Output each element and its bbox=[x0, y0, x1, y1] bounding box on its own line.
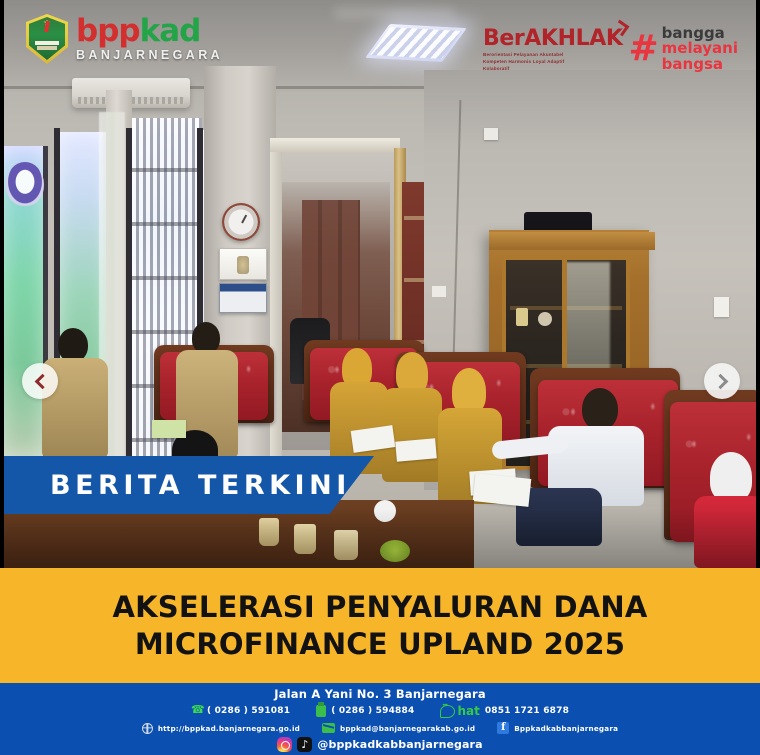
brand-name-part1: bpp bbox=[76, 13, 140, 49]
footer-contact-row-2: http://bppkad.banjarnegara.go.id bppkad@… bbox=[142, 722, 618, 734]
door-lintel bbox=[270, 138, 400, 152]
berakhlak-values-list: Berorientasi Pelayanan Akuntabel Kompete… bbox=[483, 52, 588, 73]
cabinet-cornice bbox=[489, 232, 655, 250]
crest-red-mark bbox=[44, 21, 50, 32]
chevron-left-icon bbox=[34, 373, 50, 389]
cabinet-trophy bbox=[516, 308, 528, 326]
document-folder-green bbox=[152, 420, 186, 438]
light-switch bbox=[714, 297, 729, 317]
photo-vignette bbox=[4, 508, 756, 568]
website-url: http://bppkad.banjarnegara.go.id bbox=[158, 724, 300, 733]
email-address: bppkad@banjarnegarakab.go.id bbox=[340, 724, 475, 733]
facebook-contact[interactable]: f Bppkadkabbanjarnegara bbox=[497, 722, 618, 734]
social-handle: @bppkadkabbanjarnegara bbox=[317, 738, 482, 751]
window-emblem-decal bbox=[6, 162, 44, 206]
facebook-icon: f bbox=[497, 722, 509, 734]
document-paper bbox=[473, 473, 532, 507]
document-paper bbox=[395, 438, 437, 461]
chevron-right-icon bbox=[712, 373, 728, 389]
wall-outlet-upper bbox=[484, 128, 498, 140]
carousel-prev-button[interactable] bbox=[22, 363, 58, 399]
fax-contact[interactable]: ( 0286 ) 594884 bbox=[316, 705, 414, 717]
brand-subtitle: BANJARNEGARA bbox=[76, 49, 223, 62]
headline-block: AKSELERASI PENYALURAN DANA MICROFINANCE … bbox=[0, 568, 760, 683]
phone-contact[interactable]: ☎ ( 0286 ) 591081 bbox=[191, 705, 290, 717]
social-media-post: bppkad BANJARNEGARA BerAKHLAK Berorienta… bbox=[0, 0, 760, 755]
carousel-next-button[interactable] bbox=[704, 363, 740, 399]
whatsapp-contact[interactable]: hat 0851 1721 6878 bbox=[440, 704, 569, 718]
brand-name: bppkad bbox=[76, 16, 223, 47]
chat-word: hat bbox=[457, 704, 479, 718]
wall-plaque-certificate bbox=[219, 248, 267, 280]
berita-terkini-label: BERITA TERKINI bbox=[4, 470, 351, 501]
fax-number: ( 0286 ) 594884 bbox=[331, 706, 414, 716]
attendee-head bbox=[582, 388, 618, 430]
fax-icon bbox=[316, 705, 326, 717]
headline-line-2: MICROFINANCE UPLAND 2025 bbox=[135, 629, 625, 659]
attendee-hijab-white bbox=[710, 452, 752, 502]
bppkad-logo: bppkad BANJARNEGARA bbox=[26, 14, 223, 64]
email-contact[interactable]: bppkad@banjarnegarakab.go.id bbox=[322, 723, 475, 733]
crest-band-2 bbox=[37, 46, 57, 49]
banjarnegara-regency-crest-icon bbox=[26, 14, 68, 64]
globe-icon bbox=[142, 723, 153, 734]
office-address: Jalan A Yani No. 3 Banjarnegara bbox=[274, 687, 486, 701]
wall-outlet-left bbox=[432, 286, 446, 297]
footer-contact-row-1: ☎ ( 0286 ) 591081 ( 0286 ) 594884 hat 08… bbox=[191, 704, 569, 718]
berakhlak-wordmark: BerAKHLAK bbox=[483, 28, 623, 50]
bangga-melayani-bangsa-logo: # bangga melayani bangsa bbox=[629, 16, 739, 72]
brand-wordmark: bppkad BANJARNEGARA bbox=[76, 16, 223, 62]
phone-icon: ☎ bbox=[191, 705, 202, 717]
headline-line-1: AKSELERASI PENYALURAN DANA bbox=[112, 592, 647, 622]
tiktok-icon[interactable]: ♪ bbox=[297, 737, 312, 752]
bangga-text-stack: bangga melayani bangsa bbox=[662, 26, 738, 72]
brand-name-part2: kad bbox=[140, 13, 201, 49]
contact-footer: Jalan A Yani No. 3 Banjarnegara ☎ ( 0286… bbox=[0, 683, 760, 755]
ceiling-light-glow bbox=[334, 8, 454, 18]
crest-inner bbox=[29, 17, 65, 60]
website-contact[interactable]: http://bppkad.banjarnegara.go.id bbox=[142, 723, 300, 734]
chat-icon: hat bbox=[440, 704, 479, 718]
phone-number: ( 0286 ) 591081 bbox=[207, 706, 290, 716]
berakhlak-logo: BerAKHLAK Berorientasi Pelayanan Akuntab… bbox=[483, 16, 623, 73]
cabinet-ornament bbox=[538, 312, 552, 326]
window-frame-2 bbox=[126, 128, 132, 468]
hashtag-icon: # bbox=[629, 35, 659, 64]
crest-band bbox=[35, 41, 58, 45]
wall-clock-icon bbox=[222, 203, 260, 241]
whatsapp-number: 0851 1721 6878 bbox=[485, 706, 569, 716]
bangga-line-3: bangsa bbox=[662, 57, 738, 72]
instagram-icon[interactable] bbox=[277, 737, 292, 752]
mail-icon bbox=[322, 723, 335, 733]
chat-bubble-icon bbox=[440, 705, 455, 718]
footer-social-row: ♪ @bppkadkabbanjarnegara bbox=[277, 737, 482, 752]
berita-terkini-banner: BERITA TERKINI bbox=[4, 456, 374, 514]
attendee-head bbox=[58, 328, 88, 362]
wall-plaque-blue bbox=[219, 283, 267, 313]
facebook-page: Bppkadkabbanjarnegara bbox=[514, 724, 618, 733]
core-values-logo: BerAKHLAK Berorientasi Pelayanan Akuntab… bbox=[483, 16, 738, 73]
